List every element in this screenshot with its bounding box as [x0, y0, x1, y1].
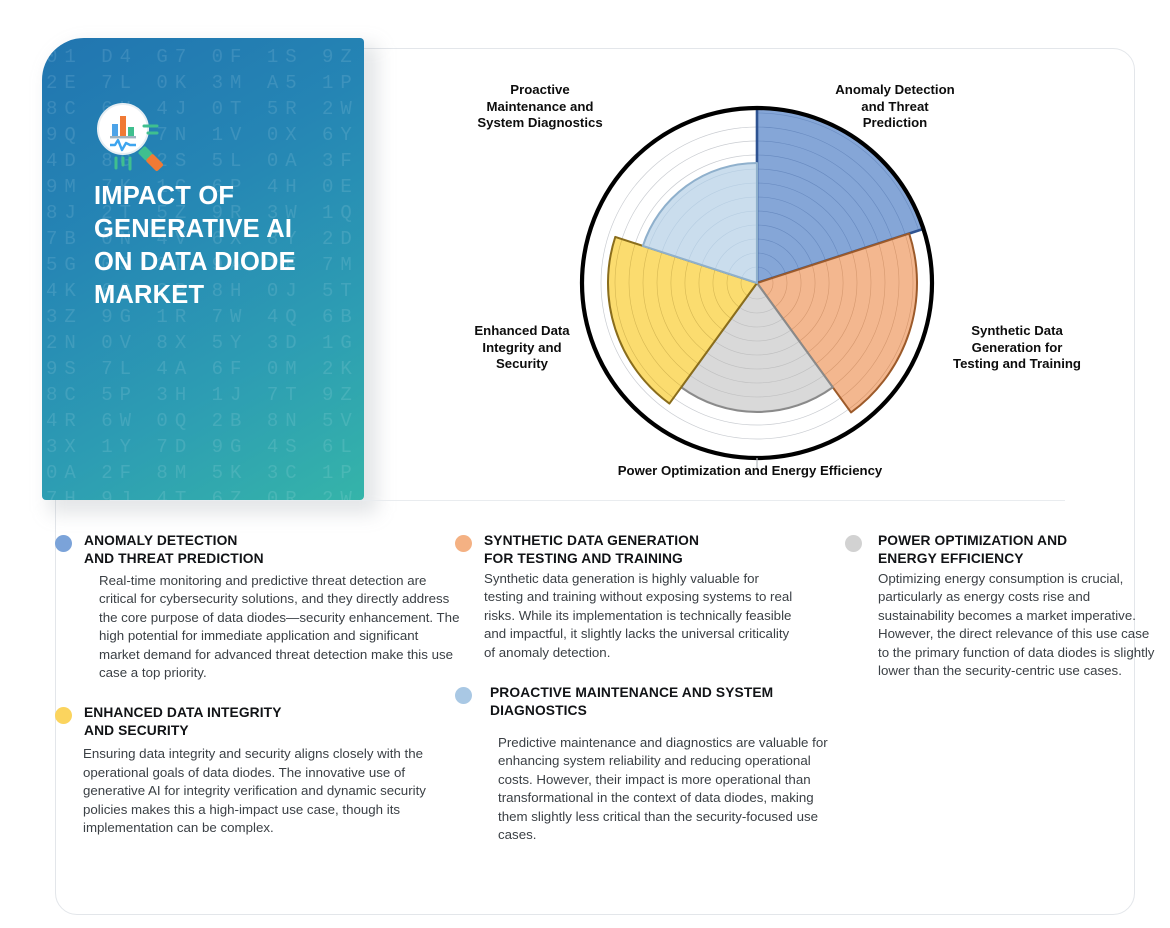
legend-column-3: POWER OPTIMIZATION AND ENERGY EFFICIENCY… [845, 532, 1165, 866]
legend-body-synthetic-data: Synthetic data generation is highly valu… [484, 570, 794, 662]
section-divider [110, 500, 1065, 501]
chart-label-anomaly-detection: Anomaly Detection and Threat Prediction [800, 82, 990, 132]
legend-item-proactive-maintenance[interactable]: PROACTIVE MAINTENANCE AND SYSTEM DIAGNOS… [455, 684, 845, 844]
chart-label-enhanced-data-integrity: Enhanced Data Integrity and Security [442, 323, 602, 373]
chart-label-power-optimization: Power Optimization and Energy Efficiency [560, 463, 940, 480]
rose-chart: Proactive Maintenance and System Diagnos… [400, 55, 1130, 500]
cover-title: IMPACT OF GENERATIVE AI ON DATA DIODE MA… [94, 180, 344, 312]
legend-dot-enhanced-data-integrity [55, 707, 72, 724]
legend-dot-proactive-maintenance [455, 687, 472, 704]
chart-label-synthetic-data: Synthetic Data Generation for Testing an… [922, 323, 1112, 373]
legend-item-synthetic-data[interactable]: SYNTHETIC DATA GENERATION FOR TESTING AN… [455, 532, 845, 662]
infographic-root: 01 D4 G7 0F 1S 9Z 2E 7L 0K 3M A5 1P 8C 6… [0, 0, 1170, 928]
legend-dot-anomaly-detection [55, 535, 72, 552]
report-cover-panel: 01 D4 G7 0F 1S 9Z 2E 7L 0K 3M A5 1P 8C 6… [42, 38, 364, 500]
legend-title-synthetic-data: SYNTHETIC DATA GENERATION FOR TESTING AN… [484, 532, 699, 568]
legend-item-anomaly-detection[interactable]: ANOMALY DETECTION AND THREAT PREDICTION … [55, 532, 455, 682]
legend-body-power-optimization: Optimizing energy consumption is crucial… [878, 570, 1160, 680]
legend-item-power-optimization[interactable]: POWER OPTIMIZATION AND ENERGY EFFICIENCY… [845, 532, 1165, 680]
legend-column-1: ANOMALY DETECTION AND THREAT PREDICTION … [55, 532, 455, 866]
chart-label-proactive-maintenance: Proactive Maintenance and System Diagnos… [455, 82, 625, 132]
legend-grid: ANOMALY DETECTION AND THREAT PREDICTION … [55, 532, 1165, 866]
legend-dot-synthetic-data [455, 535, 472, 552]
legend-body-proactive-maintenance: Predictive maintenance and diagnostics a… [498, 734, 828, 844]
legend-title-enhanced-data-integrity: ENHANCED DATA INTEGRITY AND SECURITY [84, 704, 282, 740]
legend-title-power-optimization: POWER OPTIMIZATION AND ENERGY EFFICIENCY [878, 532, 1067, 568]
analytics-magnifier-icon [94, 100, 172, 178]
legend-body-anomaly-detection: Real-time monitoring and predictive thre… [99, 572, 461, 682]
legend-title-anomaly-detection: ANOMALY DETECTION AND THREAT PREDICTION [84, 532, 264, 568]
legend-body-enhanced-data-integrity: Ensuring data integrity and security ali… [83, 745, 455, 837]
legend-title-proactive-maintenance: PROACTIVE MAINTENANCE AND SYSTEM DIAGNOS… [490, 684, 773, 720]
legend-dot-power-optimization [845, 535, 862, 552]
legend-item-enhanced-data-integrity[interactable]: ENHANCED DATA INTEGRITY AND SECURITY Ens… [55, 704, 455, 837]
legend-column-2: SYNTHETIC DATA GENERATION FOR TESTING AN… [455, 532, 845, 866]
